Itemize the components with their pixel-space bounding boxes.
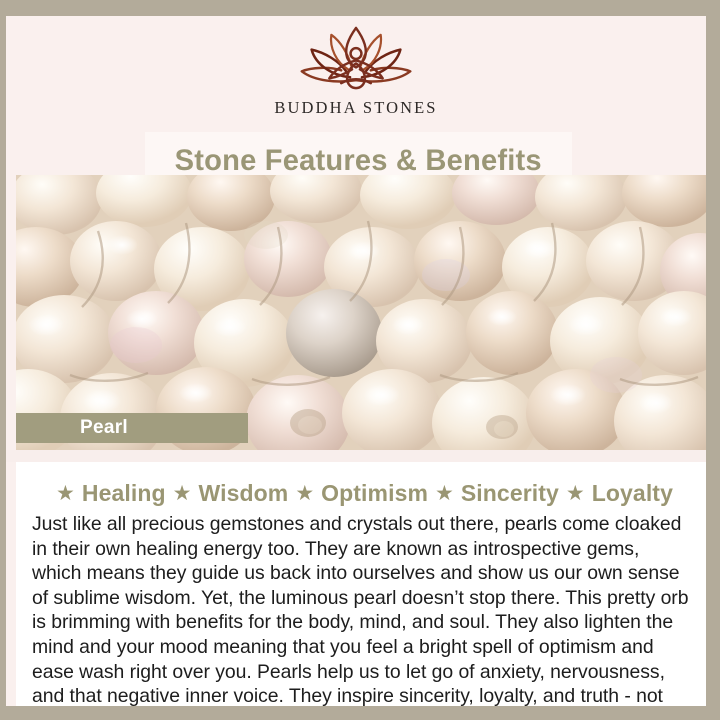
description-panel: ★ Healing ★ Wisdom ★ Optimism ★ Sincerit… [16,462,706,706]
star-icon: ★ [295,483,314,504]
page-title: Stone Features & Benefits [175,144,542,178]
page-frame: BUDDHA STONES Stone Features & Benefits [0,0,720,720]
lotus-meditation-icon [282,22,430,96]
keyword-wisdom: Wisdom [198,480,288,507]
pearls-photo [16,175,706,450]
description-text: Just like all precious gemstones and cry… [32,512,690,706]
keyword-sincerity: Sincerity [461,480,559,507]
star-icon: ★ [566,483,585,504]
keyword-list: ★ Healing ★ Wisdom ★ Optimism ★ Sincerit… [16,462,706,507]
stone-name-text: Pearl [80,417,128,439]
stone-name-bar: Pearl [16,413,248,443]
star-icon: ★ [56,483,75,504]
divider-band [6,450,706,462]
star-icon: ★ [435,483,454,504]
keyword-healing: Healing [82,480,166,507]
brand-wordmark: BUDDHA STONES [274,98,437,118]
keyword-optimism: Optimism [321,480,428,507]
brand-logo: BUDDHA STONES [6,16,706,132]
keyword-loyalty: Loyalty [592,480,673,507]
pearls-photo-image [16,175,706,450]
content-panel: BUDDHA STONES Stone Features & Benefits [6,16,706,706]
star-icon: ★ [173,483,192,504]
